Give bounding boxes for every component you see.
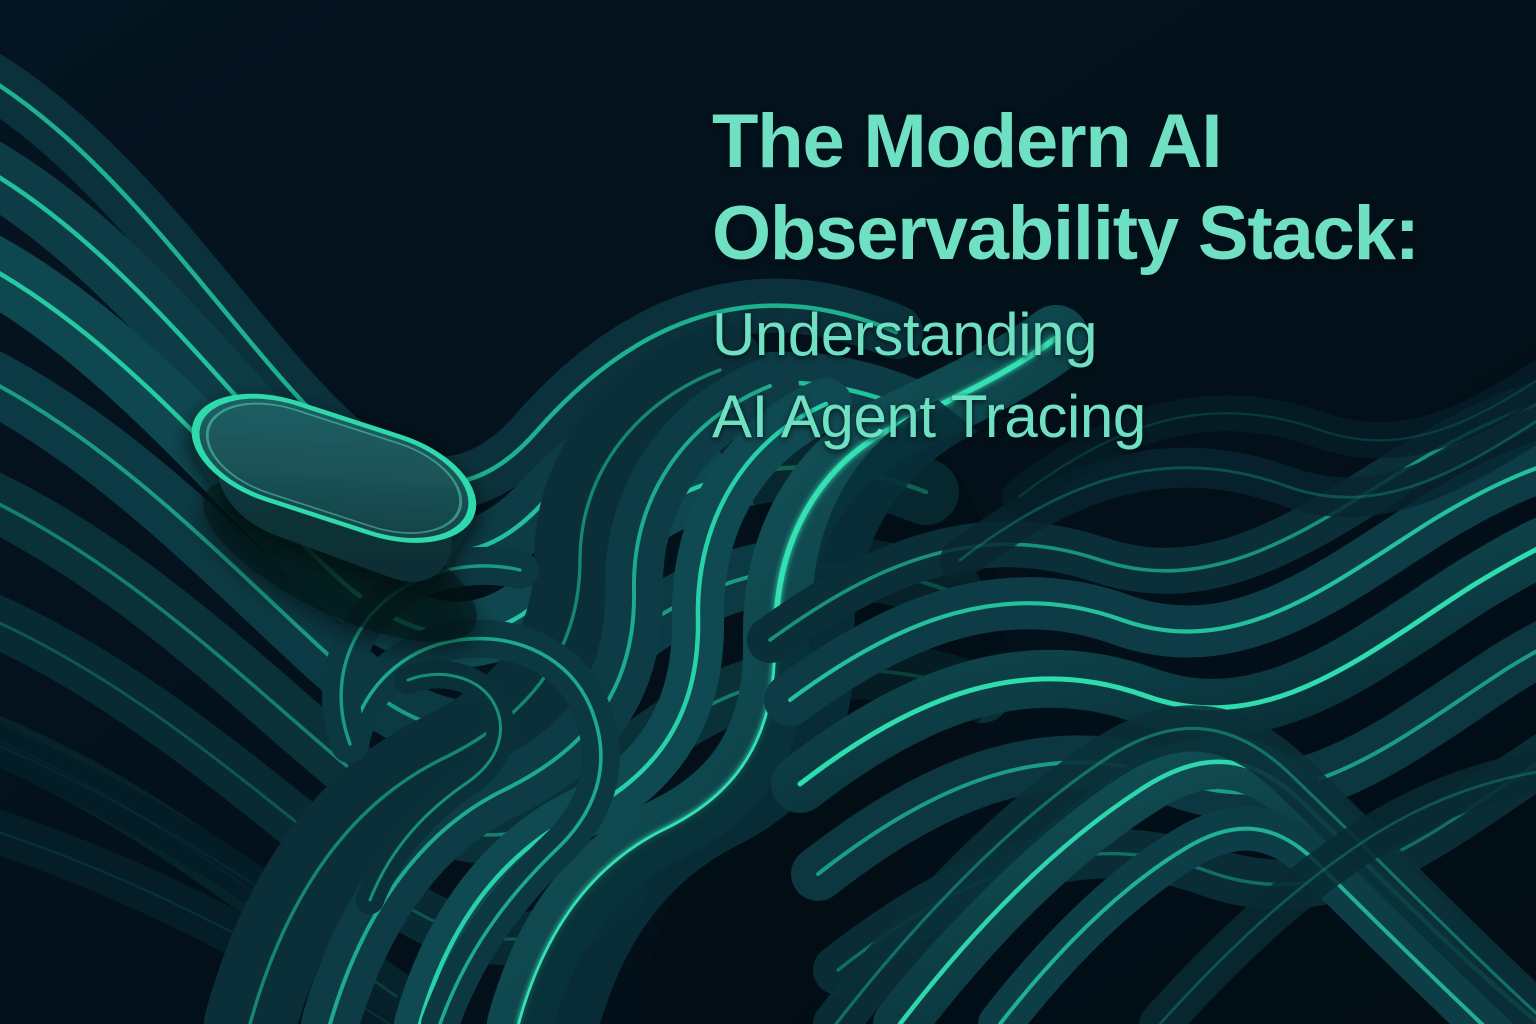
hero-text-block: The Modern AI Observability Stack: Under… [712,96,1492,458]
subtitle-line-2: AI Agent Tracing [712,376,1492,458]
title-line-1: The Modern AI [712,99,1221,184]
page-subtitle: Understanding AI Agent Tracing [712,294,1492,458]
subtitle-line-1: Understanding [712,294,1492,376]
hero-banner: The Modern AI Observability Stack: Under… [0,0,1536,1024]
page-title: The Modern AI Observability Stack: [712,96,1492,280]
title-line-2: Observability Stack: [712,191,1419,276]
